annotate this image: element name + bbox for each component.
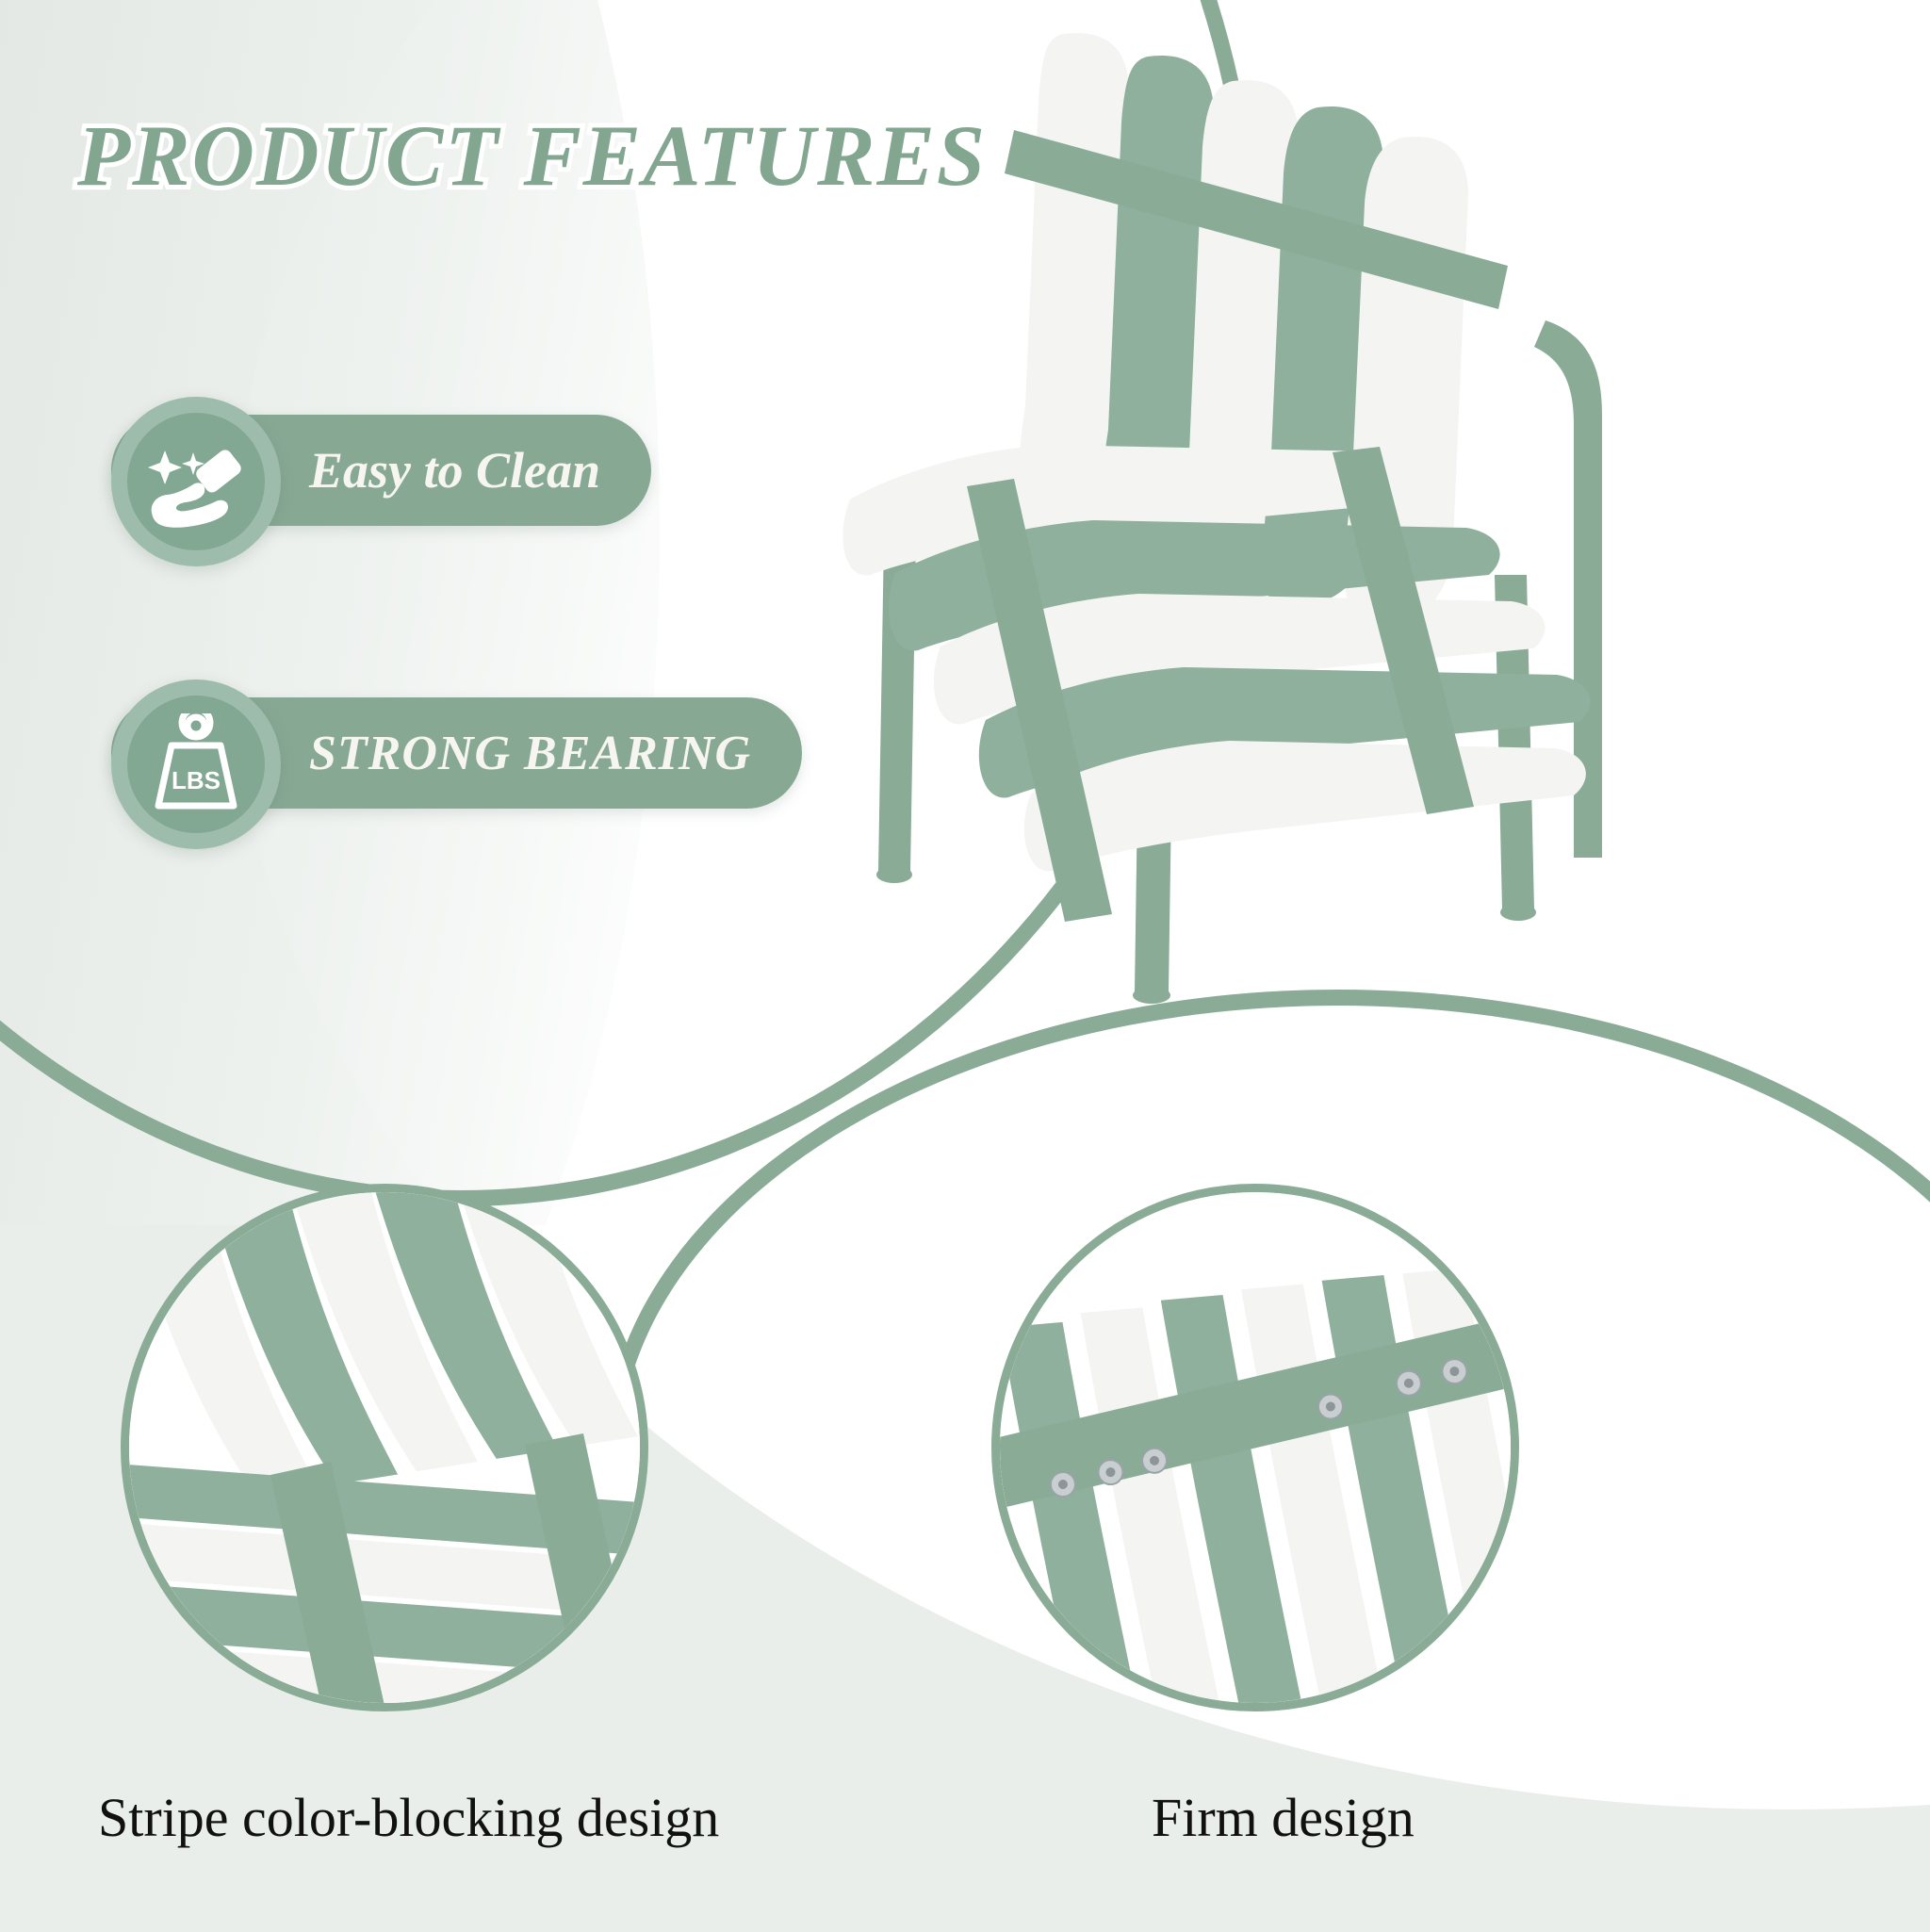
feature-item-strong-bearing: STRONG BEARING LBS: [111, 697, 802, 809]
page-title: PRODUCT FEATURES: [77, 106, 987, 205]
sparkle-hand-wipe-icon: [144, 430, 248, 533]
detail-circle: [991, 1184, 1519, 1711]
feature-item-easy-to-clean: Easy to Clean: [111, 415, 651, 526]
weight-lbs-icon: LBS: [147, 713, 245, 815]
detail-circle: [121, 1184, 648, 1711]
detail-callout-firm-design: [991, 1184, 1519, 1711]
weight-icon-label: LBS: [172, 766, 221, 794]
feature-label: Easy to Clean: [309, 441, 600, 499]
detail-caption: Stripe color-blocking design: [98, 1786, 719, 1849]
chair-seat: [842, 445, 1590, 872]
feature-badge-inner: [127, 413, 265, 550]
feature-badge: [111, 397, 281, 566]
detail-callout-stripe-design: [121, 1184, 648, 1711]
feature-label: STRONG BEARING: [309, 726, 751, 781]
detail-caption: Firm design: [1152, 1786, 1415, 1849]
feature-badge-inner: LBS: [127, 696, 265, 833]
detail-image-stripes: [129, 1192, 648, 1711]
detail-image-bolted-brace: [1000, 1192, 1519, 1711]
feature-badge: LBS: [111, 679, 281, 849]
